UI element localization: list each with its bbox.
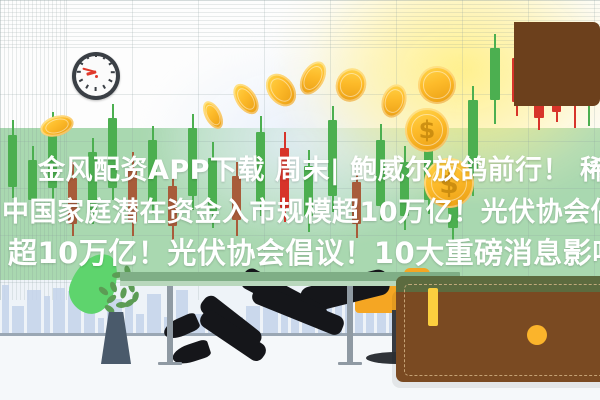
promo-banner: $$ 金风配资APP下载 周末| 鲍威尔放鸽前行！ 稀 中国家庭潜在资金入市规模… [0,0,600,400]
desk-foot-left [158,362,182,365]
headline-line-1: 金风配资APP下载 周末| 鲍威尔放鸽前行！ 稀 [38,148,600,187]
wallet-flap [514,22,600,106]
headline-line-2: 中国家庭潜在资金入市规模超10万亿！光伏协会倡议 [2,190,600,229]
wallet-button [527,325,547,345]
wallet-stitching [404,284,600,376]
headline-line-3: 超10万亿！光伏协会倡议！10大重磅消息影响股市 [8,230,600,272]
desk-leg-left [167,281,173,363]
desk-foot-right [338,362,362,365]
desk-leg-right [347,281,353,363]
